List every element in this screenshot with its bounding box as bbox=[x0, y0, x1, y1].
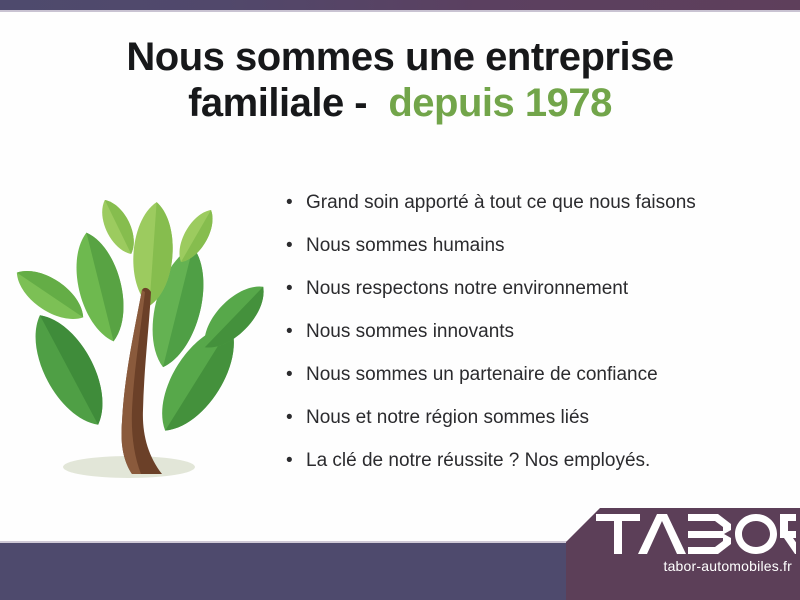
bullet-marker-icon: • bbox=[286, 279, 306, 298]
leaf-dark-right-upper bbox=[193, 275, 275, 358]
title-line-2-prefix: familiale bbox=[188, 81, 344, 125]
tabor-logo-svg bbox=[596, 514, 796, 560]
tree-illustration bbox=[12, 182, 278, 488]
list-item: • Nous sommes un partenaire de confiance bbox=[286, 364, 786, 407]
bullet-text: Nous sommes un partenaire de confiance bbox=[306, 364, 658, 386]
logo-tagline: tabor-automobiles.fr bbox=[566, 558, 800, 574]
logo-panel: tabor-automobiles.fr bbox=[566, 508, 800, 600]
bullet-text: Grand soin apporté à tout ce que nous fa… bbox=[306, 192, 696, 214]
bullet-marker-icon: • bbox=[286, 193, 306, 212]
slide-canvas: Nous sommes une entreprise familiale - d… bbox=[0, 0, 800, 600]
page-title: Nous sommes une entreprise familiale - d… bbox=[0, 34, 800, 127]
tree-illustration-svg bbox=[12, 182, 278, 488]
bullet-marker-icon: • bbox=[286, 451, 306, 470]
bullet-marker-icon: • bbox=[286, 322, 306, 341]
tabor-logo-wordmark bbox=[596, 514, 796, 560]
list-item: • Grand soin apporté à tout ce que nous … bbox=[286, 192, 786, 235]
list-item: • La clé de notre réussite ? Nos employé… bbox=[286, 450, 786, 493]
bullet-list: • Grand soin apporté à tout ce que nous … bbox=[286, 192, 786, 493]
list-item: • Nous sommes humains bbox=[286, 235, 786, 278]
title-line-2: familiale - depuis 1978 bbox=[0, 80, 800, 126]
bullet-text: Nous sommes humains bbox=[306, 235, 505, 257]
top-accent-bar-hairline bbox=[0, 10, 800, 12]
title-accent-text: depuis 1978 bbox=[388, 81, 612, 125]
title-line-1: Nous sommes une entreprise bbox=[0, 34, 800, 80]
bullet-text: Nous respectons notre environnement bbox=[306, 278, 628, 300]
bullet-marker-icon: • bbox=[286, 236, 306, 255]
list-item: • Nous sommes innovants bbox=[286, 321, 786, 364]
top-accent-bar bbox=[0, 0, 800, 10]
bullet-text: Nous sommes innovants bbox=[306, 321, 514, 343]
bullet-text: La clé de notre réussite ? Nos employés. bbox=[306, 450, 650, 472]
title-dash: - bbox=[344, 81, 389, 125]
bullet-marker-icon: • bbox=[286, 365, 306, 384]
list-item: • Nous respectons notre environnement bbox=[286, 278, 786, 321]
bullet-text: Nous et notre région sommes liés bbox=[306, 407, 589, 429]
list-item: • Nous et notre région sommes liés bbox=[286, 407, 786, 450]
bullet-marker-icon: • bbox=[286, 408, 306, 427]
